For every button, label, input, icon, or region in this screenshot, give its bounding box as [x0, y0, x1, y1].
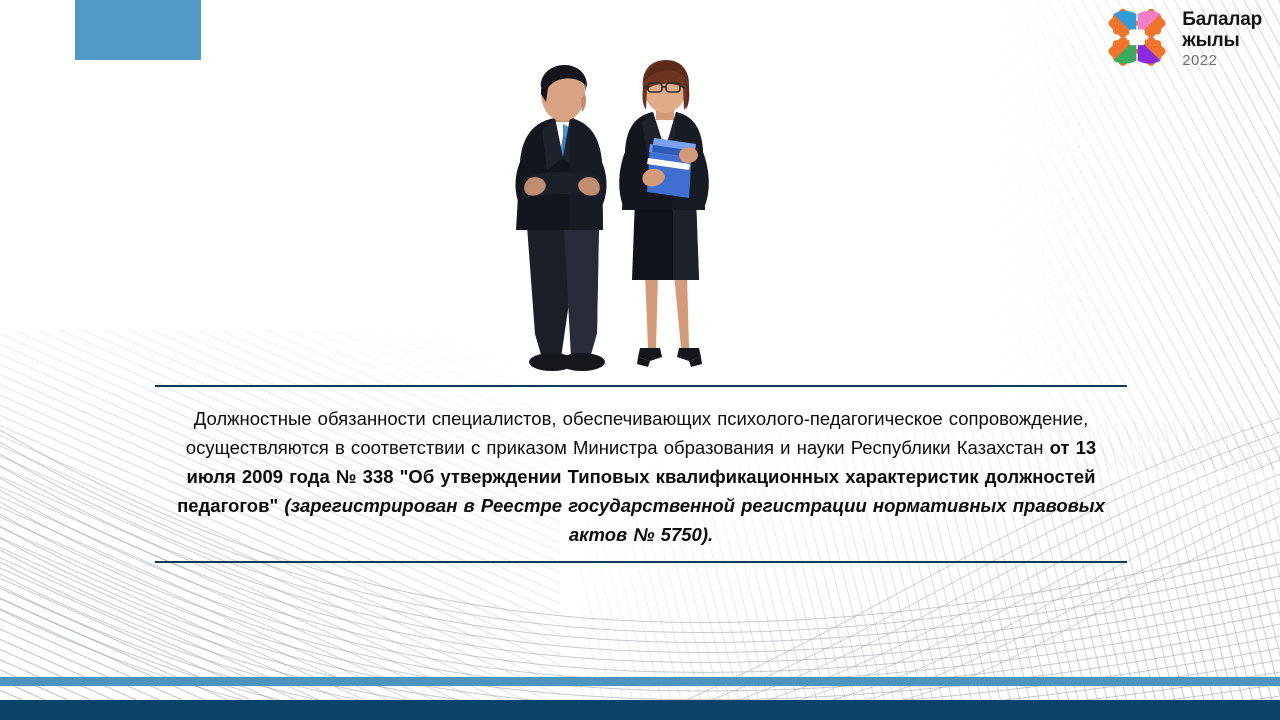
top-divider-rule — [155, 385, 1127, 387]
slide-canvas: Балалар жылы 2022 — [0, 0, 1280, 720]
body-text-bold-italic: (зарегистрирован в Реестре государственн… — [284, 495, 1105, 545]
logo-text-block: Балалар жылы 2022 — [1182, 8, 1262, 68]
balalar-zhyly-logo: Балалар жылы 2022 — [1101, 4, 1262, 72]
man-figure — [516, 65, 607, 371]
blue-accent-block — [75, 0, 201, 60]
body-text-regular: Должностные обязанности специалистов, об… — [186, 408, 1089, 458]
logo-line-1: Балалар — [1182, 10, 1262, 29]
flower-star-logo-icon — [1101, 4, 1173, 72]
bottom-divider-rule — [155, 561, 1127, 563]
logo-line-2: жылы — [1182, 31, 1262, 50]
two-business-people-illustration — [498, 58, 734, 384]
slide-body-text: Должностные обязанности специалистов, об… — [160, 404, 1122, 549]
logo-year: 2022 — [1182, 53, 1262, 68]
footer-light-blue-bar — [0, 677, 1280, 686]
footer-navy-bar — [0, 700, 1280, 720]
woman-figure — [619, 60, 709, 367]
